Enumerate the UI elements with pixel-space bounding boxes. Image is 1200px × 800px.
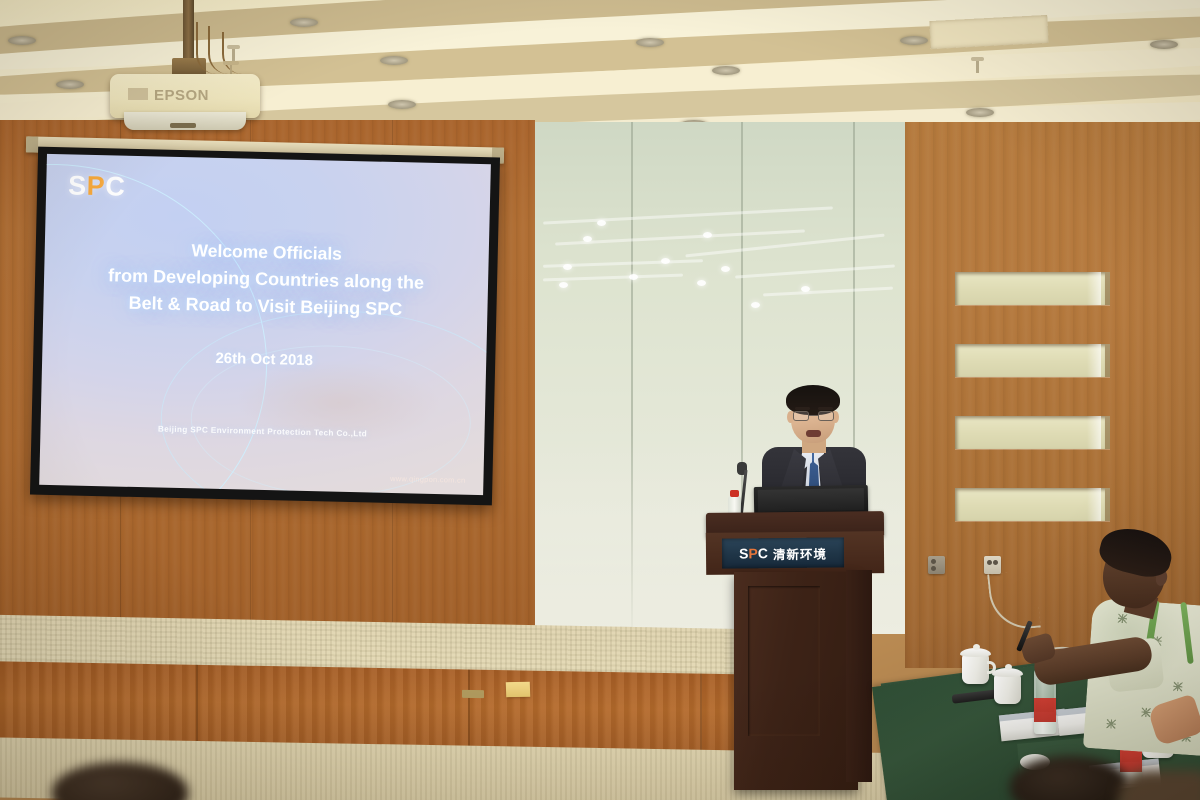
teacup [994, 674, 1021, 704]
slide-surface: SPC Welcome Officials from Developing Co… [39, 154, 491, 495]
podium-logo-c: C [758, 545, 768, 561]
logo-letter-s: S [68, 170, 87, 200]
ceiling-downlight [1150, 40, 1178, 49]
speaker-mouth [806, 430, 821, 437]
wall-outlet [984, 556, 1001, 574]
ceiling-reflection [535, 214, 907, 324]
sprinkler-head [976, 60, 979, 73]
ceiling-downlight [56, 80, 84, 89]
speaker-eyebrow [818, 407, 833, 410]
logo-letter-p: P [86, 171, 105, 201]
stage-card [506, 682, 531, 697]
wall-inset-panel [955, 488, 1110, 521]
wall-outlet [928, 556, 945, 574]
ceiling-downlight [900, 36, 928, 45]
foreground-shoulder [1118, 770, 1200, 800]
ceiling-downlight [380, 56, 408, 65]
projector-mount-rod [183, 0, 194, 64]
wall-inset-panel [955, 272, 1110, 305]
slide-title: Welcome Officials from Developing Countr… [43, 234, 489, 325]
podium-logo-p: P [748, 545, 758, 561]
podium-logo: SPC [739, 545, 768, 561]
podium-sign: SPC 清新环境 [722, 537, 844, 568]
ceiling-downlight [636, 38, 664, 47]
projector-badge [128, 88, 148, 100]
slide-title-line-1: Welcome Officials [191, 240, 342, 264]
podium-front-recess [748, 586, 820, 736]
podium-side-panel [846, 570, 872, 782]
ceiling-downlight [8, 36, 36, 45]
ceiling-downlight [966, 108, 994, 117]
ceiling-downlight [712, 66, 740, 75]
stage-object [462, 690, 484, 698]
podium-body [734, 572, 858, 790]
ceiling-downlight [388, 100, 416, 109]
podium-sign-chinese-text: 清新环境 [773, 543, 827, 563]
slide-spc-logo: SPC [68, 170, 126, 202]
ceiling-downlight [290, 18, 318, 27]
slide-website-url: www.qingpon.com.cn [390, 474, 465, 485]
projector-brand-label: EPSON [154, 87, 209, 104]
wall-inset-panel [955, 416, 1110, 449]
speaker-eyebrow [795, 407, 810, 410]
wall-inset-panel [955, 344, 1110, 377]
projector-lens [124, 112, 246, 130]
projection-screen: SPC Welcome Officials from Developing Co… [30, 147, 500, 506]
speaker-glasses [793, 411, 834, 421]
teacup [962, 654, 989, 684]
conference-room-photo: EPSON SPC Welcome Officials from Develop… [0, 0, 1200, 800]
logo-letter-c: C [105, 171, 126, 201]
